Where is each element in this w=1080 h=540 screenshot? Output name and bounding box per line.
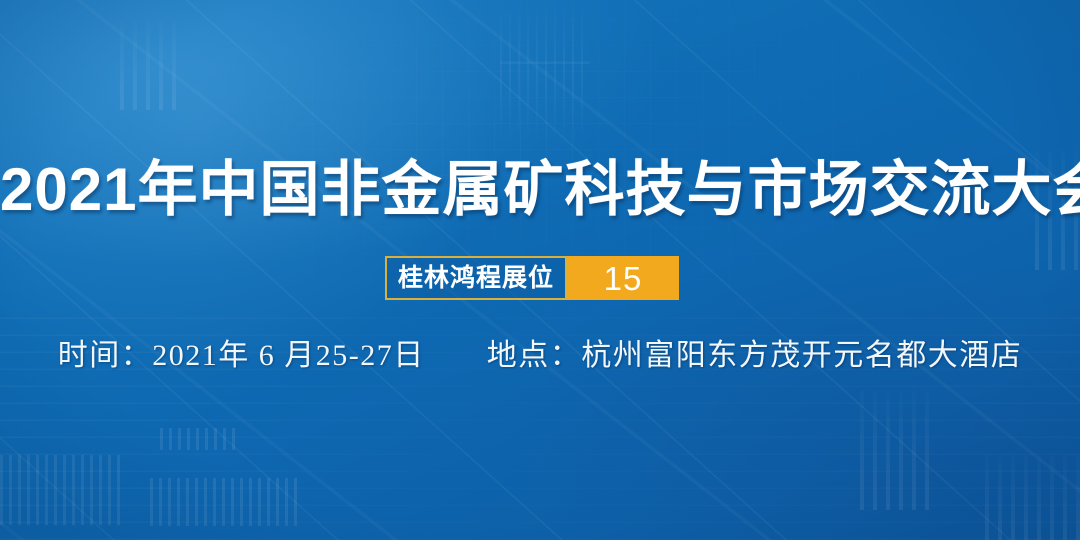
conference-banner: 2021年中国非金属矿科技与市场交流大会 桂林鸿程展位 15 时间：2021年 … <box>0 0 1080 540</box>
event-info: 时间：2021年 6 月25-27日 地点：杭州富阳东方茂开元名都大酒店 <box>0 330 1080 374</box>
booth-badge: 桂林鸿程展位 15 <box>385 256 679 300</box>
booth-exhibitor-label: 桂林鸿程展位 <box>385 256 567 300</box>
banner-content: 2021年中国非金属矿科技与市场交流大会 桂林鸿程展位 15 时间：2021年 … <box>0 0 1080 540</box>
booth-number: 15 <box>567 256 679 300</box>
event-date: 时间：2021年 6 月25-27日 <box>58 330 425 374</box>
event-venue: 地点：杭州富阳东方茂开元名都大酒店 <box>487 330 1023 374</box>
page-title: 2021年中国非金属矿科技与市场交流大会 <box>0 160 1080 220</box>
